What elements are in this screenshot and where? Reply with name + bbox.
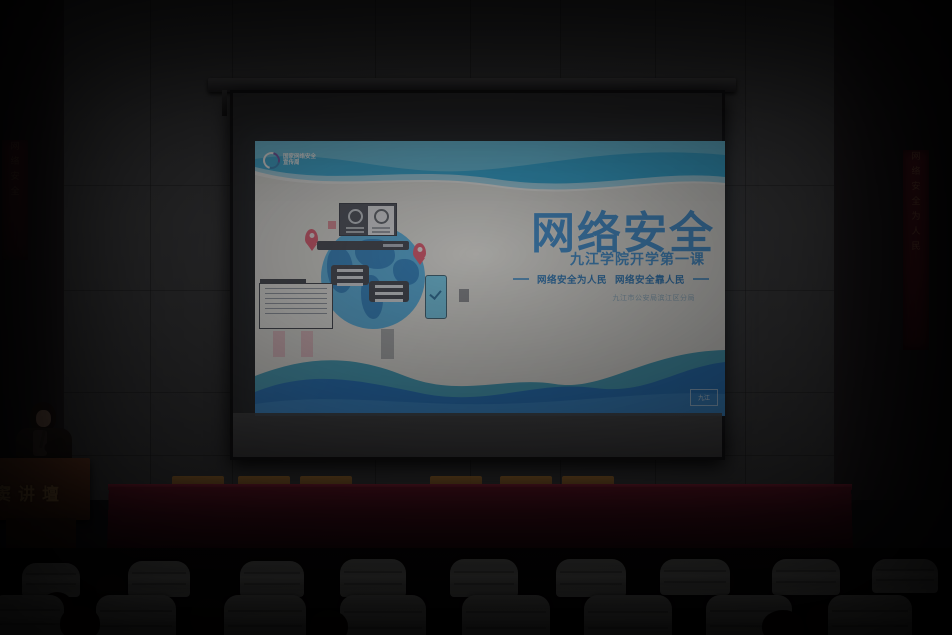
banner-char: 全 xyxy=(903,195,929,210)
screen-blank-area xyxy=(233,413,722,457)
audience-head xyxy=(762,610,804,635)
stage-skirt xyxy=(107,487,853,549)
laptop-icon xyxy=(317,241,409,250)
network-security-illustration xyxy=(273,199,473,364)
podium: 窦 讲 壇 xyxy=(0,458,90,520)
banner-char: 络 xyxy=(2,155,28,170)
slide-wave-bottom xyxy=(255,342,725,416)
audience-seat xyxy=(240,561,304,597)
audience-seat xyxy=(450,559,518,597)
slide-watermark: 九江 xyxy=(690,389,718,406)
auditorium-scene: 网 络 安 全 为 人 民 网 络 安 全 xyxy=(0,0,952,635)
banner-char: 人 xyxy=(903,225,929,240)
folder-document-icon xyxy=(259,283,333,329)
podium-inscription: 窦 讲 壇 xyxy=(0,480,88,505)
banner-char: 网 xyxy=(903,150,929,165)
location-pin-icon xyxy=(413,243,426,260)
audience-head xyxy=(310,610,348,635)
slide-logo-line2: 宣传周 xyxy=(283,160,316,167)
slogan-right-text: 网络安全靠人民 xyxy=(615,272,685,286)
screen-surface: 国家网络安全 宣传周 xyxy=(230,90,725,460)
wall-banner-right: 网 络 安 全 为 人 民 xyxy=(903,150,929,350)
right-wall-slab xyxy=(834,0,952,500)
swoosh-logo-icon xyxy=(260,148,283,171)
audience-head xyxy=(60,606,100,635)
banner-char: 络 xyxy=(903,165,929,180)
audience-seat xyxy=(0,595,64,635)
slide-slogan: 网络安全为人民 网络安全靠人民 xyxy=(513,272,709,286)
monitor-dashboard-icon xyxy=(339,203,397,236)
audience-seat xyxy=(772,559,840,595)
audience-seat xyxy=(340,559,406,597)
banner-char: 民 xyxy=(903,240,929,255)
slogan-left-text: 网络安全为人民 xyxy=(537,272,607,286)
audience-head xyxy=(190,598,228,635)
slogan-dash-right xyxy=(693,278,709,280)
audience-seat xyxy=(128,561,190,597)
audience-seat xyxy=(96,595,176,635)
speech-bubble-icon xyxy=(331,265,369,285)
slogan-dash-left xyxy=(513,278,529,280)
audience-seat xyxy=(224,595,306,635)
banner-char: 为 xyxy=(903,210,929,225)
podium-char: 壇 xyxy=(42,480,59,505)
slide-watermark-text: 九江 xyxy=(698,393,710,402)
audience-seat xyxy=(340,595,426,635)
audience-seat xyxy=(584,595,672,635)
audience-seat xyxy=(872,559,938,593)
audience-seating xyxy=(0,548,952,635)
banner-char: 网 xyxy=(2,140,28,155)
projected-slide: 国家网络安全 宣传周 xyxy=(255,141,725,416)
slide-subtitle: 九江学院开学第一课 xyxy=(570,249,705,269)
banner-char: 安 xyxy=(903,180,929,195)
banner-char: 安 xyxy=(2,170,28,185)
podium-char: 窦 xyxy=(0,480,11,505)
speech-bubble-icon xyxy=(369,281,409,302)
audience-seat xyxy=(556,559,626,597)
banner-char: 全 xyxy=(2,185,28,200)
device-chip-icon xyxy=(459,289,469,302)
wall-banner-left: 网 络 安 全 xyxy=(2,140,28,260)
projection-screen: 国家网络安全 宣传周 xyxy=(208,78,736,460)
slide-logo: 国家网络安全 宣传周 xyxy=(263,149,325,171)
podium-char: 讲 xyxy=(18,480,35,505)
device-chip-icon xyxy=(328,221,336,229)
smartphone-checkmark-icon xyxy=(425,275,447,319)
speaker-face xyxy=(36,410,51,427)
audience-seat xyxy=(462,595,550,635)
audience-seat xyxy=(660,559,730,595)
screen-bracket-left xyxy=(222,90,227,116)
slide-organization: 九江市公安局滨江区分局 xyxy=(613,293,696,303)
audience-seat xyxy=(828,595,912,635)
